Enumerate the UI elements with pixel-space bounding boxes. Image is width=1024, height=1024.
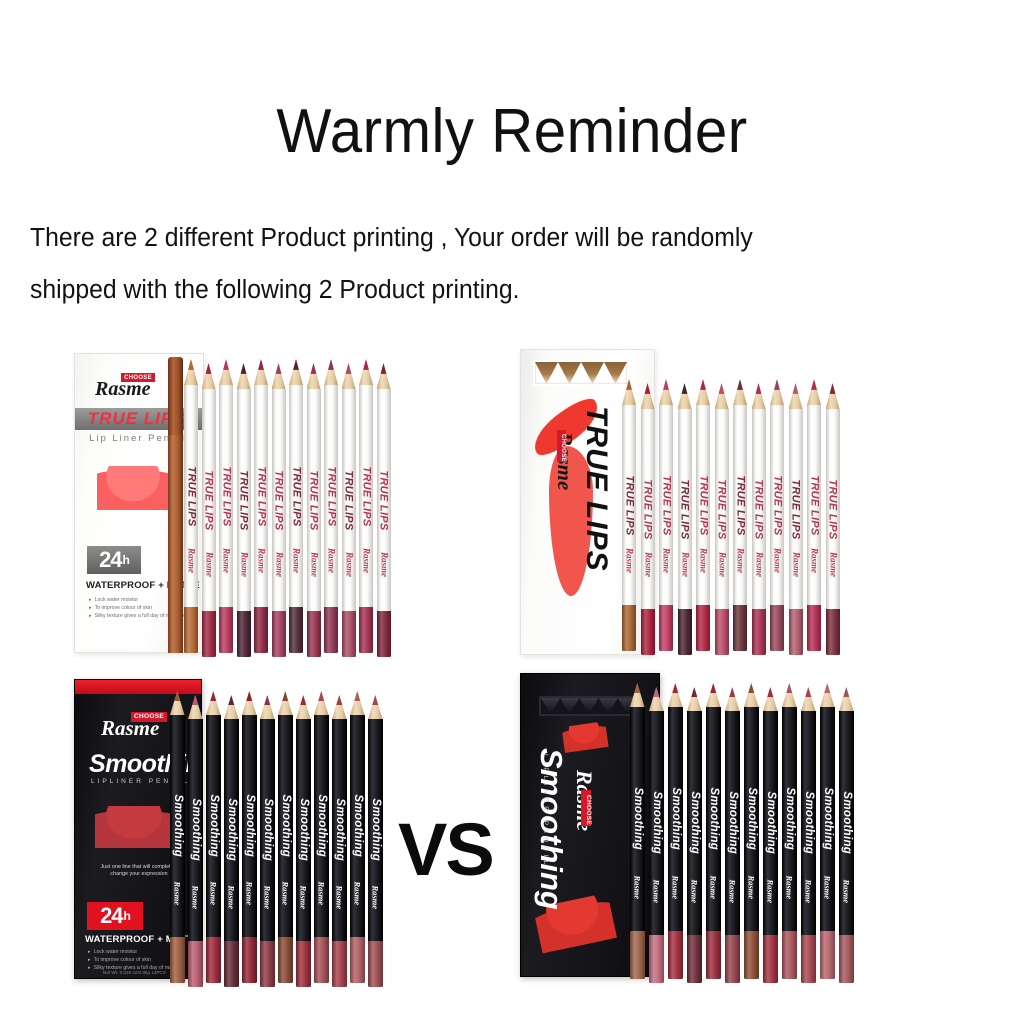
pencil-body: SmoothingRasme (260, 719, 275, 941)
pencil-body: TRUE LIPSRasme (622, 405, 636, 605)
pencil: TRUE LIPSRasme (307, 363, 321, 657)
pencil-cap (368, 941, 383, 987)
pencil-brand-script: Rasme (810, 548, 819, 573)
pencil: TRUE LIPSRasme (254, 359, 268, 653)
pencil-label: TRUE LIPS (735, 475, 746, 535)
pencil-brand-script: Rasme (709, 875, 718, 899)
pencil-label: Smoothing (226, 799, 238, 862)
pencil-cap (202, 611, 216, 657)
pencil-brand-script: Rasme (245, 881, 254, 905)
pencil-lead (763, 687, 778, 697)
pencil-lead (272, 363, 286, 374)
pencil: SmoothingRasme (649, 687, 664, 983)
page-title: Warmly Reminder (31, 96, 994, 167)
pencil-tip (289, 359, 303, 385)
pencil: SmoothingRasme (188, 695, 203, 987)
pencil-body: TRUE LIPSRasme (342, 389, 356, 611)
pencil-brand-script: Rasme (823, 875, 832, 899)
subtitle-line-1: There are 2 different Product printing ,… (30, 212, 969, 264)
pencil-lead (342, 363, 356, 374)
pencil-lead (782, 683, 797, 693)
pencil-lead (278, 691, 293, 701)
product-variant-true-lips-front: CHOOSE Rasme TRUE LIPS Lip Liner Pencil … (62, 345, 392, 665)
pencil-cap (641, 609, 655, 655)
pencil-label: Smoothing (244, 795, 256, 858)
pencil-label: TRUE LIPS (642, 479, 653, 539)
pencil-brand-script: Rasme (690, 879, 699, 903)
pencil-label: Smoothing (262, 799, 274, 862)
pencil-cap (254, 607, 268, 653)
pencil-label: Smoothing (822, 788, 834, 851)
choose-badge: CHOOSE (581, 790, 591, 826)
pencil-brand-script: Rasme (309, 552, 318, 577)
pencil-tip (807, 379, 821, 405)
pencil-label: Smoothing (651, 792, 663, 855)
pencil-lead (170, 691, 185, 701)
pencil-label: Smoothing (172, 795, 184, 858)
pencil-tip (219, 359, 233, 385)
pencil-brand-script: Rasme (274, 552, 283, 577)
pencil-lead (659, 379, 673, 390)
pencil-cap (224, 941, 239, 987)
pencil-brand-script: Rasme (652, 879, 661, 903)
pencil: SmoothingRasme (350, 691, 365, 983)
pencil-lead (820, 683, 835, 693)
pencil-label: TRUE LIPS (203, 470, 214, 530)
pencil-brand-script: Rasme (747, 875, 756, 899)
pencil: TRUE LIPSRasme (184, 359, 198, 653)
pencil-body: SmoothingRasme (649, 711, 664, 935)
pencil-tip (789, 383, 803, 409)
pencil-body: SmoothingRasme (820, 707, 835, 931)
duration-badge: 24h (87, 902, 143, 930)
pencil-tip (696, 379, 710, 405)
pencil-label: Smoothing (298, 799, 310, 862)
pencil-cap (188, 941, 203, 987)
pencil-cap (789, 609, 803, 655)
pencil-tip (359, 359, 373, 385)
pencil-brand-script: Rasme (344, 552, 353, 577)
pencil-body: TRUE LIPSRasme (826, 409, 840, 609)
pencil: TRUE LIPSRasme (641, 383, 655, 655)
pencil-tip (715, 383, 729, 409)
pencil-brand-script: Rasme (173, 881, 182, 905)
pencil-tip (206, 691, 221, 715)
pencil-tip (770, 379, 784, 405)
tray-pencil-tip (558, 362, 581, 384)
pencil-brand-script: Rasme (222, 548, 231, 573)
pencil: SmoothingRasme (801, 687, 816, 983)
pencil-label: Smoothing (352, 795, 364, 858)
pencil-label: Smoothing (727, 792, 739, 855)
pencil-cap (826, 609, 840, 655)
comparison-row-true-lips: CHOOSE Rasme TRUE LIPS Lip Liner Pencil … (0, 345, 1024, 665)
lips-graphic (95, 806, 173, 848)
net-weight-label: Net Wt. 0.029 oz/0.85g 12PCS (103, 970, 166, 975)
product-title: TRUE LIPS (579, 406, 613, 572)
pencil-lead (649, 687, 664, 697)
pencil: SmoothingRasme (206, 691, 221, 983)
pencil: SmoothingRasme (744, 683, 759, 979)
pencil-brand-script: Rasme (257, 548, 266, 573)
pencil-cap (752, 609, 766, 655)
pencil-lead (668, 683, 683, 693)
pencil-cap (763, 935, 778, 983)
pencil-lead (368, 695, 383, 705)
pencil-lead (307, 363, 321, 374)
pencil-cap (820, 931, 835, 979)
pencil-lead (839, 687, 854, 697)
demo-pencil-brown (168, 357, 183, 653)
pencil-cap (342, 611, 356, 657)
pencil-label: Smoothing (208, 795, 220, 858)
comparison-row-smoothing: CHOOSE Rasme Smoothing LIPLINER PENCIL J… (0, 665, 1024, 985)
pencil-body: TRUE LIPSRasme (733, 405, 747, 605)
pencil-body: TRUE LIPSRasme (715, 409, 729, 609)
pencil-lead (188, 695, 203, 705)
pencil-cap (801, 935, 816, 983)
pencil-cap (630, 931, 645, 979)
pencil-tip (820, 683, 835, 707)
pencil-cap (314, 937, 329, 983)
pencil-label: TRUE LIPS (186, 466, 197, 526)
pencil-cap (622, 605, 636, 651)
pencil-body: TRUE LIPSRasme (237, 389, 251, 611)
pencil-lead (789, 383, 803, 394)
pencil-label: TRUE LIPS (326, 466, 337, 526)
pencil-tip (254, 359, 268, 385)
pencil-tip (342, 363, 356, 389)
pencil-brand-script: Rasme (263, 885, 272, 909)
pencil: TRUE LIPSRasme (289, 359, 303, 653)
pencil-brand-script: Rasme (791, 552, 800, 577)
pencil: SmoothingRasme (314, 691, 329, 983)
pencil-lead (237, 363, 251, 374)
pencil-label: TRUE LIPS (308, 470, 319, 530)
pencil-body: SmoothingRasme (763, 711, 778, 935)
pencil-lead (678, 383, 692, 394)
pencil-lead (807, 379, 821, 390)
pencil-label: TRUE LIPS (827, 479, 838, 539)
pencil: SmoothingRasme (820, 683, 835, 979)
pencil-tip (184, 359, 198, 385)
pencil-lead (289, 359, 303, 370)
product-variant-true-lips-side: TRUE LIPS LIP LINER PENCIL Rasme CHOOSE … (520, 345, 965, 665)
pencil: TRUE LIPSRasme (696, 379, 710, 651)
product-variant-smoothing-side: Smoothing LIPLINER PENCIL Rasme CHOOSE S… (520, 665, 965, 985)
pencil-tip (725, 687, 740, 711)
pencil-brand-script: Rasme (362, 548, 371, 573)
duration-number: 24 (99, 547, 121, 573)
pencil-label: Smoothing (334, 799, 346, 862)
product-subtitle: LIPLINER PENCIL (542, 754, 549, 868)
pencil-brand-script: Rasme (353, 881, 362, 905)
pencil-tip (641, 383, 655, 409)
lips-graphic (97, 466, 169, 510)
product-title: Smoothing (533, 748, 569, 910)
pencil-tip (706, 683, 721, 707)
pencil-set-true-lips-white-b: TRUE LIPSRasmeTRUE LIPSRasmeTRUE LIPSRas… (622, 379, 844, 655)
tray-pencil-tip (599, 698, 618, 714)
pencil-tip (170, 691, 185, 715)
pencil-label: Smoothing (803, 792, 815, 855)
pencil-brand-script: Rasme (191, 885, 200, 909)
pencil-cap (359, 607, 373, 653)
pencil-brand-script: Rasme (379, 552, 388, 577)
pencil-brand-script: Rasme (204, 552, 213, 577)
subtitle-line-2: shipped with the following 2 Product pri… (30, 264, 969, 316)
pencil-label: Smoothing (765, 792, 777, 855)
pencil: TRUE LIPSRasme (622, 379, 636, 651)
pencil-tip (272, 363, 286, 389)
pencil: TRUE LIPSRasme (678, 383, 692, 655)
pencil-lead (706, 683, 721, 693)
pencil-cap (770, 605, 784, 651)
pencil-brand-script: Rasme (842, 879, 851, 903)
pencil-body: TRUE LIPSRasme (678, 409, 692, 609)
bullet-item: To improve colour of skin (88, 957, 183, 963)
pencil-brand-script: Rasme (804, 879, 813, 903)
pencil: SmoothingRasme (170, 691, 185, 983)
pencil-cap (725, 935, 740, 983)
pencil-body: SmoothingRasme (782, 707, 797, 931)
pencil-tip (763, 687, 778, 711)
pencil-cap (782, 931, 797, 979)
pencil-brand-script: Rasme (227, 885, 236, 909)
pencil-brand-script: Rasme (662, 548, 671, 573)
pencil-label: Smoothing (746, 788, 758, 851)
pencil-body: SmoothingRasme (630, 707, 645, 931)
pencil-label: TRUE LIPS (221, 466, 232, 526)
pencil-body: SmoothingRasme (687, 711, 702, 935)
pencil: SmoothingRasme (332, 695, 347, 987)
pencil-label: Smoothing (316, 795, 328, 858)
pencil-label: TRUE LIPS (753, 479, 764, 539)
pencil-label: TRUE LIPS (809, 475, 820, 535)
pencil-body: SmoothingRasme (224, 719, 239, 941)
choose-badge: CHOOSE (557, 430, 566, 462)
pencil-brand-script: Rasme (728, 879, 737, 903)
pencil-tip (224, 695, 239, 719)
pencil: TRUE LIPSRasme (807, 379, 821, 651)
pencil-lead (377, 363, 391, 374)
pencil-cap (278, 937, 293, 983)
pencil-cap (206, 937, 221, 983)
pencil-lead (242, 691, 257, 701)
pencil-cap (242, 937, 257, 983)
pencil-cap (307, 611, 321, 657)
pencil: SmoothingRasme (763, 687, 778, 983)
pencil-label: TRUE LIPS (343, 470, 354, 530)
pencil-body: TRUE LIPSRasme (219, 385, 233, 607)
pencil: SmoothingRasme (260, 695, 275, 987)
pencil-label: TRUE LIPS (661, 475, 672, 535)
pencil-lead (202, 363, 216, 374)
pencil-label: TRUE LIPS (256, 466, 267, 526)
pencil-brand-script: Rasme (292, 548, 301, 573)
pencil-body: SmoothingRasme (242, 715, 257, 937)
pencil-brand-script: Rasme (785, 875, 794, 899)
pencil-lead (206, 691, 221, 701)
pencil: TRUE LIPSRasme (826, 383, 840, 655)
pencil-lead (359, 359, 373, 370)
pencil: SmoothingRasme (630, 683, 645, 979)
pencil: SmoothingRasme (668, 683, 683, 979)
pencil-label: TRUE LIPS (238, 470, 249, 530)
pencil-brand-script: Rasme (717, 552, 726, 577)
pencil-tip (752, 383, 766, 409)
pencil-label: TRUE LIPS (361, 466, 372, 526)
pencil-body: SmoothingRasme (296, 719, 311, 941)
pencil-body: SmoothingRasme (668, 707, 683, 931)
tray-pencil-tip (581, 362, 604, 384)
pencil-tip (630, 683, 645, 707)
pencil-lead (260, 695, 275, 705)
pencil: SmoothingRasme (725, 687, 740, 983)
tray-pencil-tip (560, 698, 579, 714)
pencil-brand-script: Rasme (671, 875, 680, 899)
pencil-body: TRUE LIPSRasme (807, 405, 821, 605)
pencil-body: SmoothingRasme (368, 719, 383, 941)
pencil-tip (324, 359, 338, 385)
pencil-lead (696, 379, 710, 390)
pencil-cap (170, 937, 185, 983)
pencil-lead (184, 359, 198, 370)
pencil-lead (687, 687, 702, 697)
pencil-tip (242, 691, 257, 715)
pencil: SmoothingRasme (706, 683, 721, 979)
pencil-body: SmoothingRasme (188, 719, 203, 941)
pencil-tip (687, 687, 702, 711)
pencil-tip (839, 687, 854, 711)
pencil-label: Smoothing (670, 788, 682, 851)
pencil-label: TRUE LIPS (698, 475, 709, 535)
pencil-body: SmoothingRasme (206, 715, 221, 937)
pencil-set-smoothing-black-b: SmoothingRasmeSmoothingRasmeSmoothingRas… (630, 683, 858, 983)
pencil-lead (332, 695, 347, 705)
pencil-tray-window (533, 360, 629, 386)
pencil: SmoothingRasme (278, 691, 293, 983)
pencil: TRUE LIPSRasme (272, 363, 286, 657)
pencil-body: SmoothingRasme (801, 711, 816, 935)
pencil-tip (377, 363, 391, 389)
pencil-body: TRUE LIPSRasme (272, 389, 286, 611)
pencil-label: Smoothing (370, 799, 382, 862)
pencil-cap (296, 941, 311, 987)
pencil-tip (659, 379, 673, 405)
pencil: SmoothingRasme (368, 695, 383, 987)
pencil-brand-script: Rasme (239, 552, 248, 577)
duration-badge: 24h (87, 546, 141, 574)
pencil-body: TRUE LIPSRasme (307, 389, 321, 611)
pencil-lead (296, 695, 311, 705)
pencil-lead (630, 683, 645, 693)
pencil: TRUE LIPSRasme (659, 379, 673, 651)
brand-logo-rasme: Rasme (95, 378, 151, 401)
pencil-lead (641, 383, 655, 394)
pencil-label: TRUE LIPS (273, 470, 284, 530)
pencil-body: SmoothingRasme (839, 711, 854, 935)
pencil-body: TRUE LIPSRasme (202, 389, 216, 611)
pencil-brand-script: Rasme (317, 881, 326, 905)
pencil-lead (715, 383, 729, 394)
pencil-lead (744, 683, 759, 693)
pencil-lead (733, 379, 747, 390)
pencil-body: SmoothingRasme (314, 715, 329, 937)
pencil-cap (839, 935, 854, 983)
infographic-page: Warmly Reminder There are 2 different Pr… (0, 0, 1024, 1024)
pencil-body: TRUE LIPSRasme (789, 409, 803, 609)
pencil-label: Smoothing (190, 799, 202, 862)
pencil-label: Smoothing (841, 792, 853, 855)
pencil-brand-script: Rasme (625, 548, 634, 573)
pencil-lead (752, 383, 766, 394)
pencil-lead (725, 687, 740, 697)
pencil-cap (219, 607, 233, 653)
pencil-cap (715, 609, 729, 655)
pencil-body: SmoothingRasme (725, 711, 740, 935)
pencil-body: SmoothingRasme (332, 719, 347, 941)
pencil-lead (801, 687, 816, 697)
pencil: SmoothingRasme (242, 691, 257, 983)
pencil-brand-script: Rasme (699, 548, 708, 573)
pencil-tip (314, 691, 329, 715)
pencil-body: SmoothingRasme (706, 707, 721, 931)
pencil-brand-script: Rasme (773, 548, 782, 573)
pencil-brand-script: Rasme (335, 885, 344, 909)
pencil-label: TRUE LIPS (291, 466, 302, 526)
pencil-set-true-lips-white-a: TRUE LIPSRasmeTRUE LIPSRasmeTRUE LIPSRas… (184, 359, 394, 657)
pencil-brand-script: Rasme (633, 875, 642, 899)
pencil: TRUE LIPSRasme (715, 383, 729, 655)
pencil-label: Smoothing (689, 792, 701, 855)
pencil-tip (188, 695, 203, 719)
pencil-tip (332, 695, 347, 719)
tray-pencil-tip (579, 698, 598, 714)
pencil: TRUE LIPSRasme (377, 363, 391, 657)
pencil-body: TRUE LIPSRasme (359, 385, 373, 607)
pencil-tip (678, 383, 692, 409)
pencil-lead (314, 691, 329, 701)
pencil-cap (687, 935, 702, 983)
pencil-lead (324, 359, 338, 370)
pencil-cap (696, 605, 710, 651)
pencil-brand-script: Rasme (766, 879, 775, 903)
pencil-brand-script: Rasme (327, 548, 336, 573)
pencil-body: TRUE LIPSRasme (377, 389, 391, 611)
pencil: TRUE LIPSRasme (219, 359, 233, 653)
pencil-brand-script: Rasme (754, 552, 763, 577)
pencil-brand-script: Rasme (680, 552, 689, 577)
pencil-tip (278, 691, 293, 715)
pencil-cap (350, 937, 365, 983)
pencil-cap (807, 605, 821, 651)
pencil-brand-script: Rasme (736, 548, 745, 573)
pencil: SmoothingRasme (687, 687, 702, 983)
pencil-brand-script: Rasme (299, 885, 308, 909)
pencil-tip (296, 695, 311, 719)
pencil-tip (260, 695, 275, 719)
pencil-tip (801, 687, 816, 711)
pencil-tip (368, 695, 383, 719)
pencil-tip (202, 363, 216, 389)
pencil-label: Smoothing (632, 788, 644, 851)
pencil-tray-window (539, 696, 639, 716)
pencil-cap (289, 607, 303, 653)
pencil-body: TRUE LIPSRasme (770, 405, 784, 605)
pencil: TRUE LIPSRasme (789, 383, 803, 655)
brand-logo-rasme: Rasme (101, 716, 159, 741)
